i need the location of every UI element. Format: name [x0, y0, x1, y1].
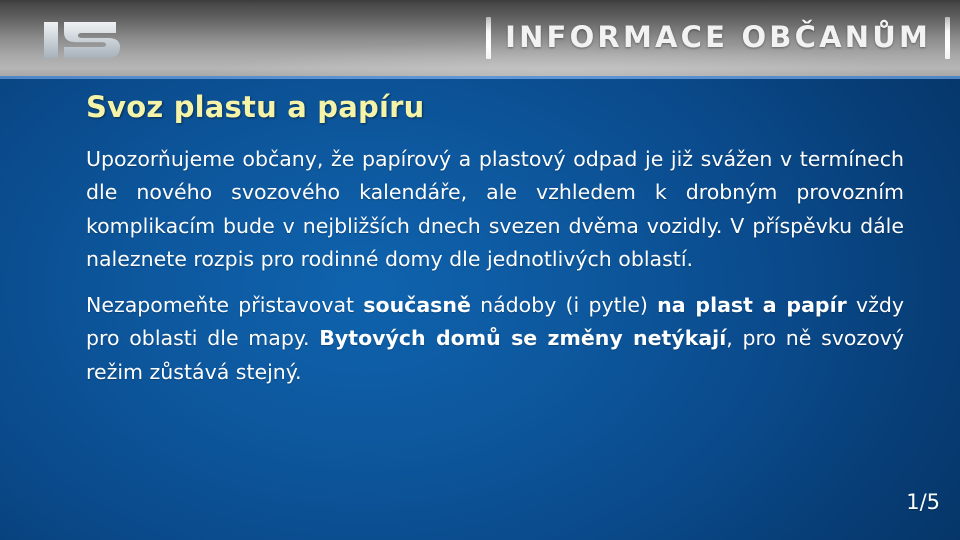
page-title: Svoz plastu a papíru	[86, 92, 904, 124]
paragraph-container: Upozorňujeme občany, že papírový a plast…	[86, 143, 904, 390]
header-title: INFORMACE OBČANŮM	[505, 23, 931, 53]
slide-body: Svoz plastu a papíru Upozorňujeme občany…	[0, 79, 960, 540]
is-monogram-logo-icon	[42, 20, 134, 60]
body-text: Upozorňujeme občany, že papírový a plast…	[86, 147, 904, 272]
header-title-group: INFORMACE OBČANŮM	[486, 14, 950, 62]
slide-header: INFORMACE OBČANŮM	[0, 0, 960, 76]
body-text: Nezapomeňte přistavovat	[86, 293, 363, 317]
paragraph-2: Nezapomeňte přistavovat současně nádoby …	[86, 289, 904, 390]
slide-content: Svoz plastu a papíru Upozorňujeme občany…	[86, 92, 904, 389]
emphasis-text: na plast a papír	[657, 293, 847, 317]
presentation-slide: INFORMACE OBČANŮM Svoz plastu a papíru U…	[0, 0, 960, 540]
body-text: nádoby (i pytle)	[471, 293, 657, 317]
vertical-bar-left-icon	[486, 17, 491, 59]
page-indicator: 1/5	[906, 492, 940, 513]
vertical-bar-right-icon	[945, 17, 950, 59]
emphasis-text: Bytových domů se změny netýkají	[319, 326, 726, 350]
emphasis-text: současně	[363, 293, 471, 317]
paragraph-1: Upozorňujeme občany, že papírový a plast…	[86, 143, 904, 277]
